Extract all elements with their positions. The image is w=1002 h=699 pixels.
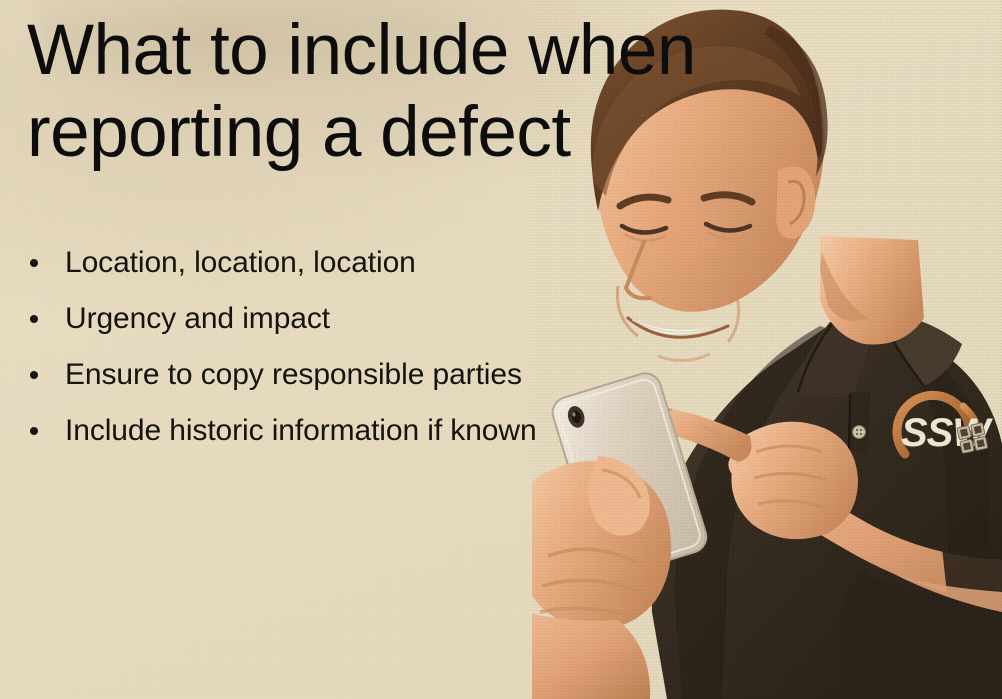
slide-canvas: SSW [0, 0, 1002, 699]
list-item: Location, location, location [22, 245, 562, 281]
page-title: What to include when reporting a defect [27, 10, 747, 174]
bullet-dot-icon [30, 315, 38, 323]
holding-hand [532, 456, 671, 699]
ear [776, 167, 815, 239]
list-item-label: Urgency and impact [65, 302, 330, 335]
bullet-dot-icon [30, 259, 38, 267]
list-item: Include historic information if known [22, 413, 562, 449]
list-item-label: Include historic information if known [65, 414, 537, 447]
list-item: Ensure to copy responsible parties [22, 357, 562, 393]
bullet-dot-icon [30, 371, 38, 379]
bullet-list: Location, location, location Urgency and… [22, 245, 562, 449]
bullet-dot-icon [30, 427, 38, 435]
list-item-label: Location, location, location [65, 246, 416, 279]
list-item-label: Ensure to copy responsible parties [65, 358, 522, 391]
list-item: Urgency and impact [22, 301, 562, 337]
